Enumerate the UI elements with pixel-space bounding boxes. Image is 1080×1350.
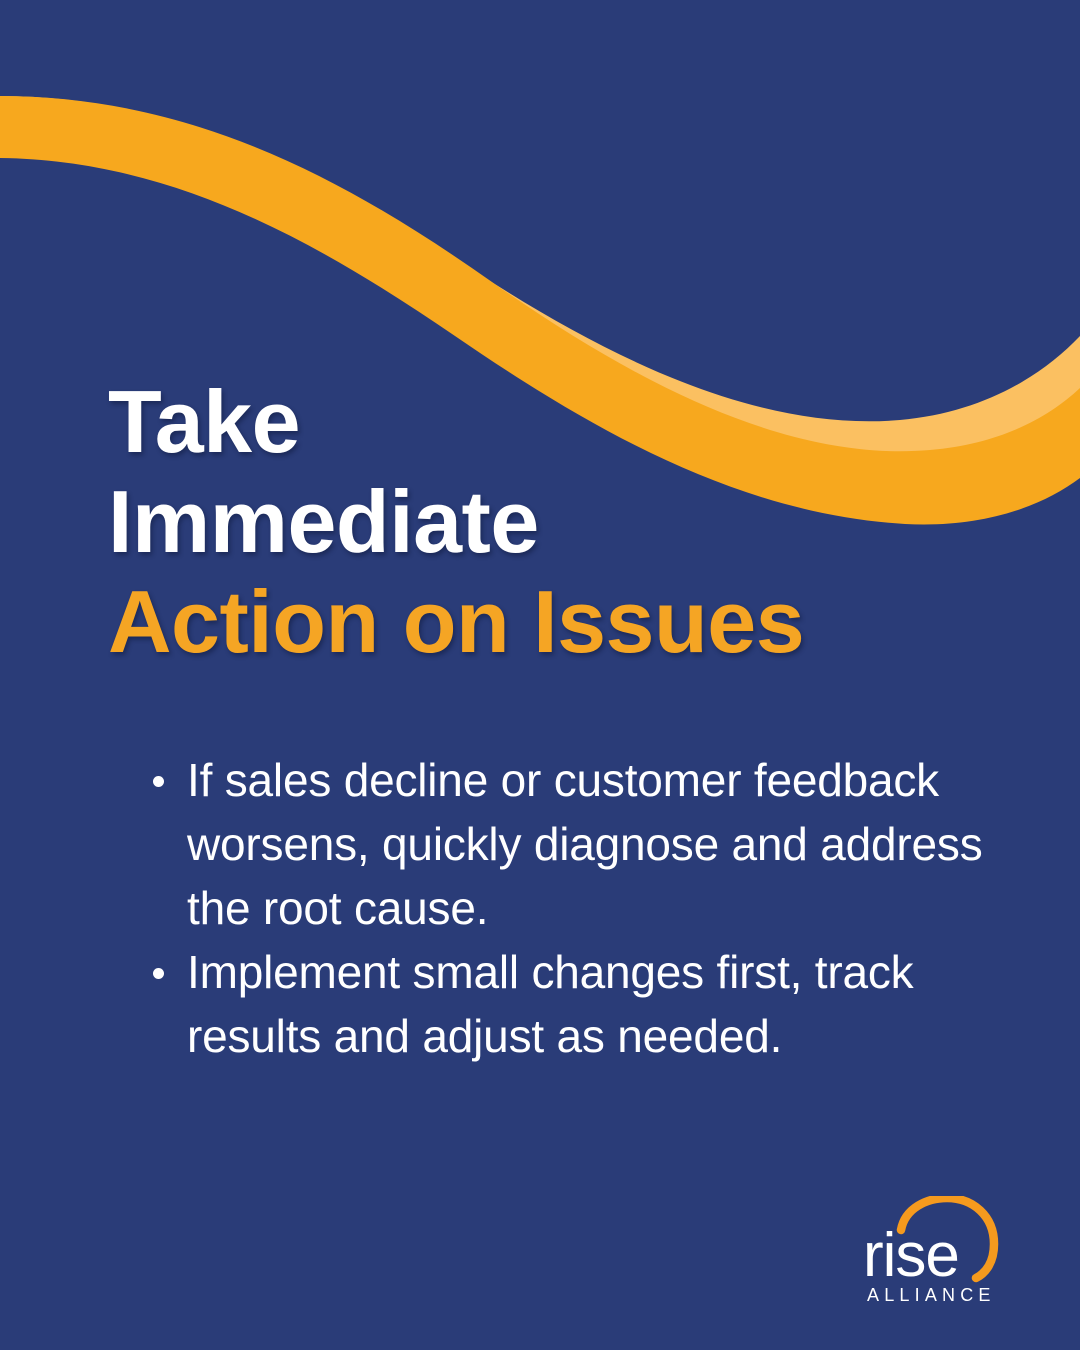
bullet-dot-icon bbox=[153, 968, 164, 979]
logo-tagline: ALLIANCE bbox=[867, 1285, 996, 1305]
list-item: Implement small changes first, track res… bbox=[146, 940, 986, 1068]
decorative-wave-graphic bbox=[0, 0, 1080, 1350]
headline-line-2: Immediate bbox=[108, 472, 968, 572]
rise-alliance-logo: rise ALLIANCE bbox=[855, 1196, 1020, 1308]
list-item: If sales decline or customer feedback wo… bbox=[146, 748, 986, 940]
logo-wordmark: rise bbox=[863, 1221, 959, 1290]
list-item-text: Implement small changes first, track res… bbox=[187, 946, 914, 1062]
bullet-dot-icon bbox=[153, 776, 164, 787]
page-title: Take Immediate Action on Issues bbox=[108, 372, 968, 672]
list-item-text: If sales decline or customer feedback wo… bbox=[187, 754, 983, 934]
bullet-list: If sales decline or customer feedback wo… bbox=[146, 748, 986, 1068]
headline-line-1: Take bbox=[108, 372, 968, 472]
headline-line-3-accent: Action on Issues bbox=[108, 572, 968, 672]
poster-canvas: Take Immediate Action on Issues If sales… bbox=[0, 0, 1080, 1350]
